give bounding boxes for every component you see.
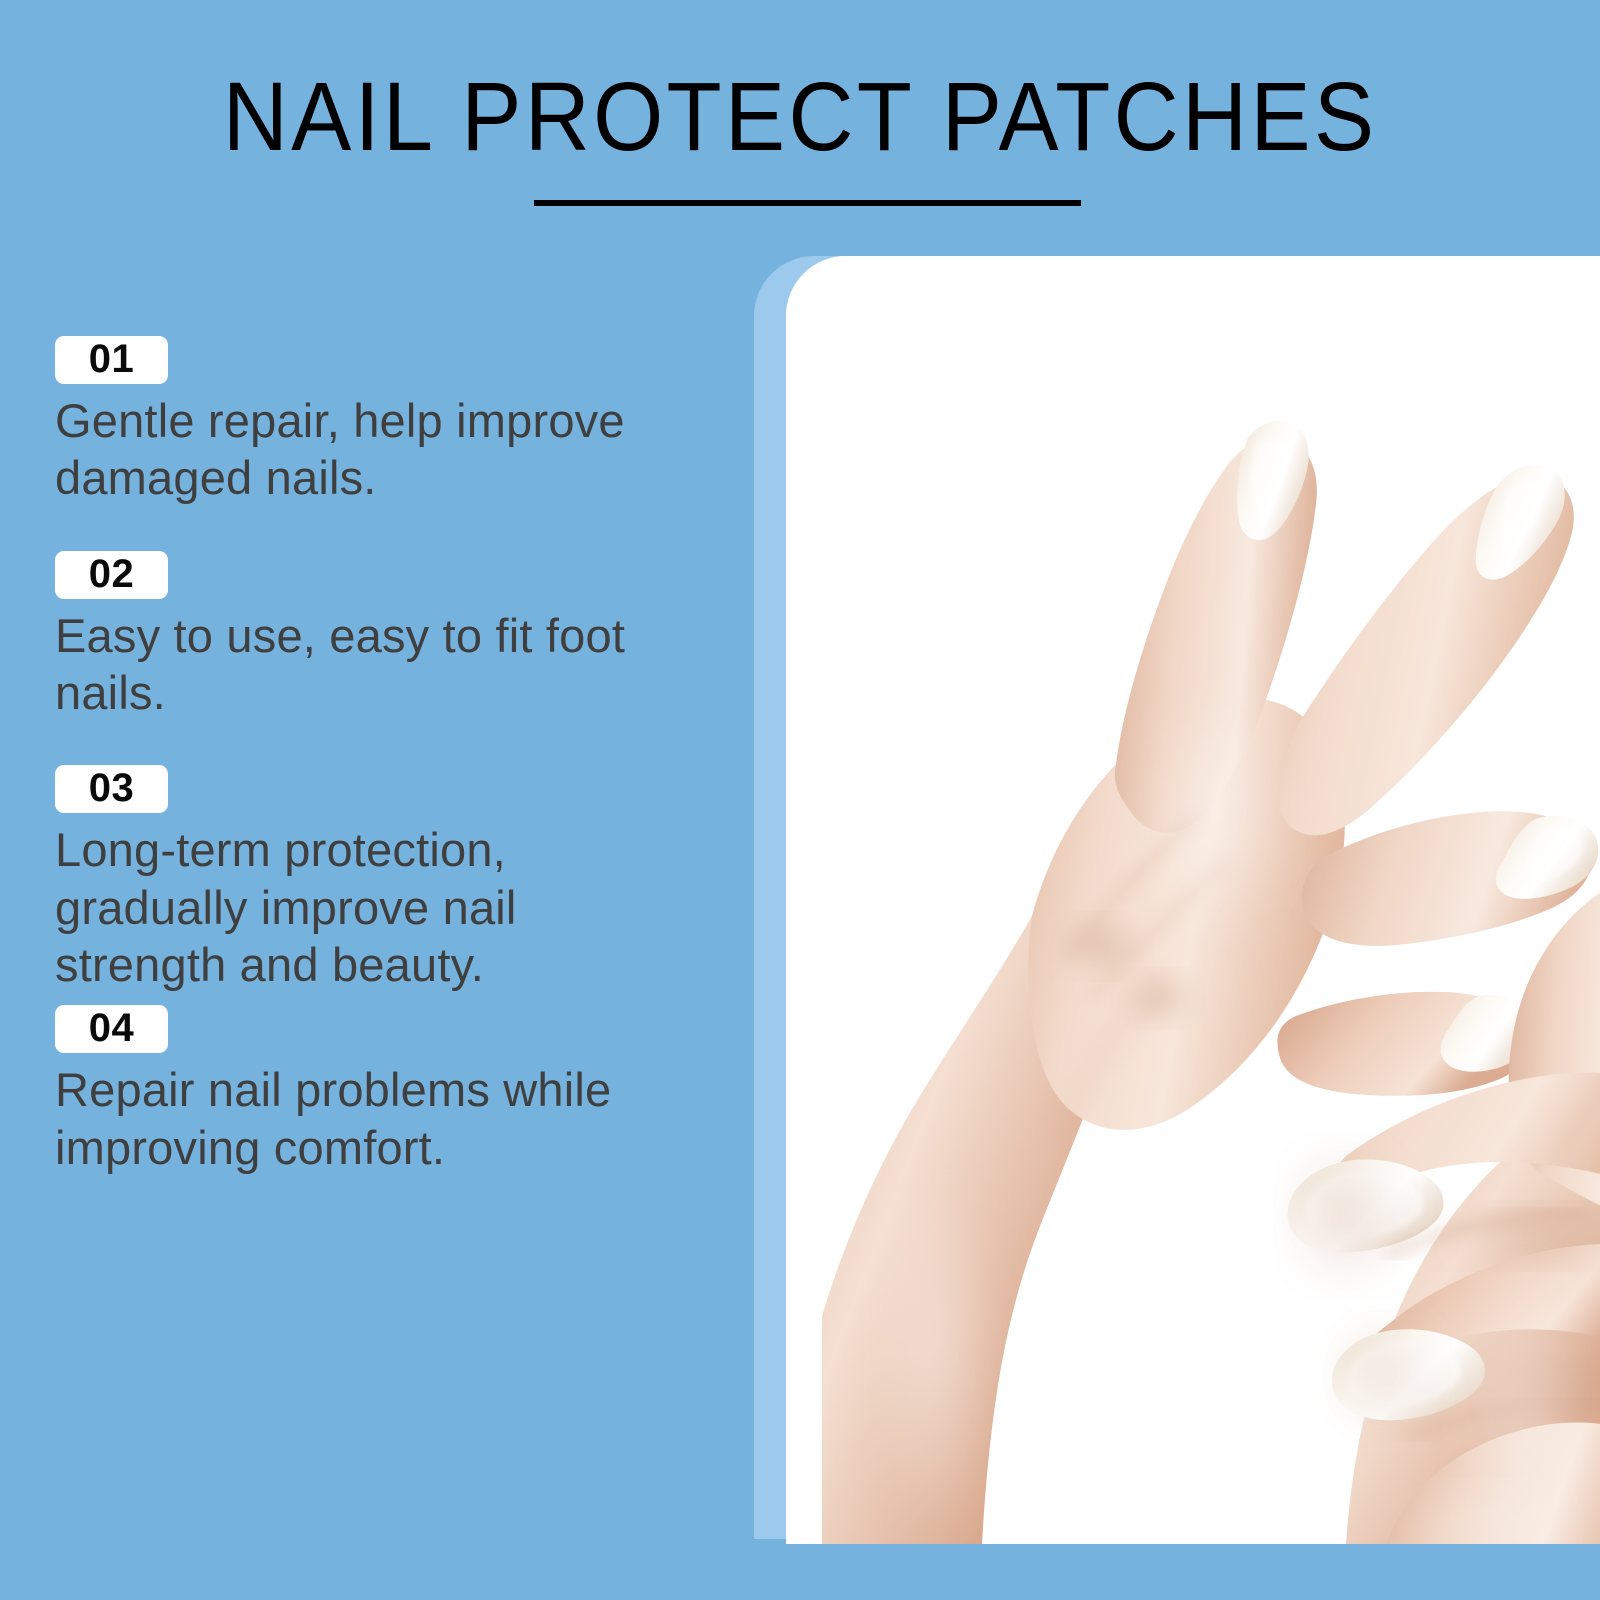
feature-item-01: 01 Gentle repair, help improve damaged n… — [55, 336, 675, 507]
feature-number-badge: 03 — [55, 765, 168, 813]
feature-number-badge: 04 — [55, 1005, 168, 1053]
feature-description: Long-term protection, gradually improve … — [55, 821, 665, 993]
feature-list: 01 Gentle repair, help improve damaged n… — [55, 336, 675, 1176]
header: NAIL PROTECT PATCHES — [0, 0, 1600, 240]
hands-photo — [786, 256, 1600, 1544]
feature-description: Easy to use, easy to fit foot nails. — [55, 607, 665, 722]
feature-number-badge: 01 — [55, 336, 168, 384]
feature-item-04: 04 Repair nail problems while improving … — [55, 1005, 675, 1176]
page-title: NAIL PROTECT PATCHES — [56, 68, 1544, 165]
feature-description: Gentle repair, help improve damaged nail… — [55, 392, 665, 507]
image-panel — [786, 256, 1600, 1544]
feature-item-02: 02 Easy to use, easy to fit foot nails. — [55, 551, 675, 722]
title-underline — [534, 200, 1081, 206]
feature-description: Repair nail problems while improving com… — [55, 1061, 665, 1176]
feature-item-03: 03 Long-term protection, gradually impro… — [55, 765, 675, 993]
feature-number-badge: 02 — [55, 551, 168, 599]
